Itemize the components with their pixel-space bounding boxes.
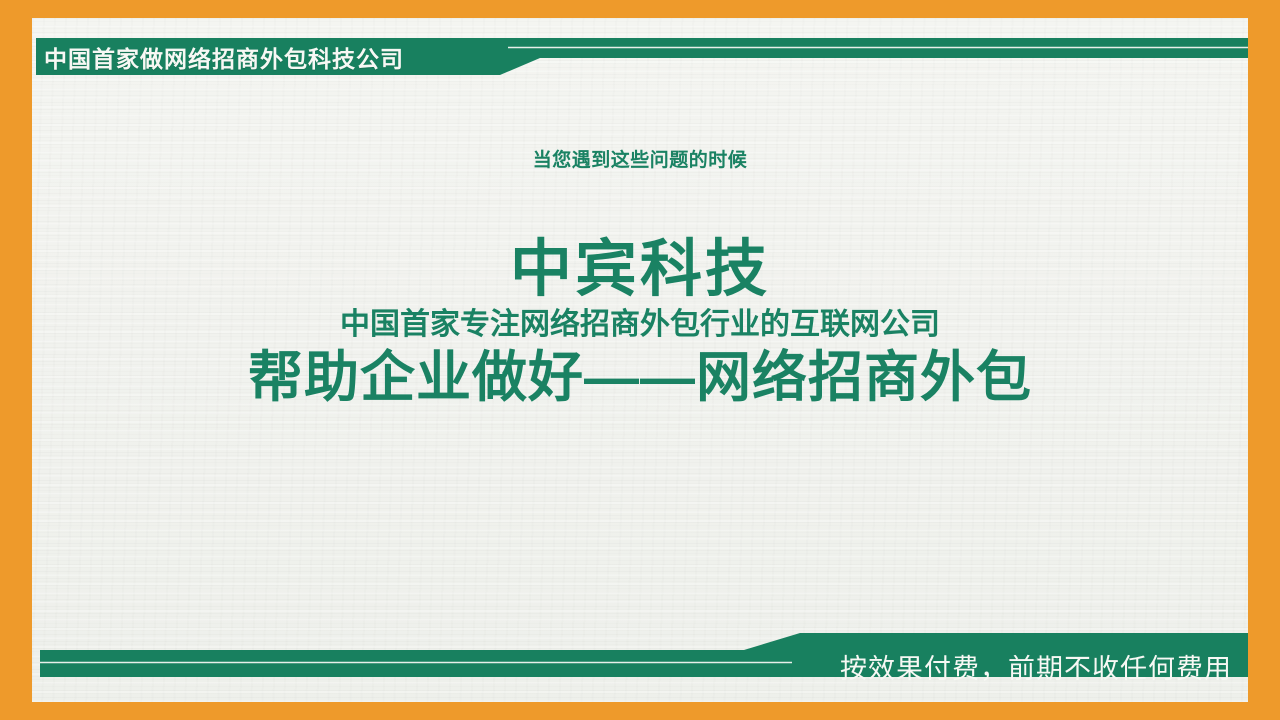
slide-root: 中国首家做网络招商外包科技公司 当您遇到这些问题的时候 中宾科技 中国首家专注网… [0, 0, 1280, 720]
header-label: 中国首家做网络招商外包科技公司 [44, 40, 404, 74]
brand-title: 中宾科技 [32, 237, 1248, 302]
headline-text: 帮助企业做好——网络招商外包 [32, 347, 1248, 409]
kicker-text: 当您遇到这些问题的时候 [32, 150, 1248, 173]
footer-label: 按效果付费，前期不收任何费用 [0, 647, 1232, 686]
main-content: 当您遇到这些问题的时候 中宾科技 中国首家专注网络招商外包行业的互联网公司 帮助… [32, 150, 1248, 408]
tagline-text: 中国首家专注网络招商外包行业的互联网公司 [32, 308, 1248, 341]
